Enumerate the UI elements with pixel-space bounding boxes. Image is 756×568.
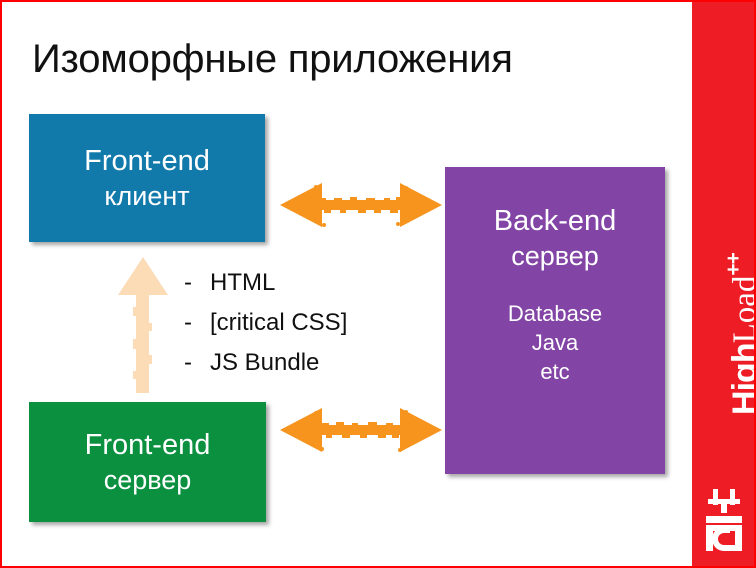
double-arrow-client-backend-icon [278,179,444,231]
box-frontend-client-line1: Front-end [84,143,210,179]
list-item-dash: - [184,343,210,383]
highload-logo-icon [700,489,748,551]
double-arrow-frontendserver-backend-icon [278,404,444,456]
list-item-label: HTML [210,263,275,303]
box-backend-server-sub3: etc [540,357,569,386]
box-backend-server-sub1: Database [508,299,602,328]
list-item-label: [critical CSS] [210,303,347,343]
box-backend-server-sub2: Java [532,328,578,357]
brand-wordmark: HighLoad++ [713,209,756,459]
list-item: - JS Bundle [184,343,347,383]
box-frontend-server-line2: сервер [104,463,192,497]
brand-high-text: High [726,343,756,415]
brand-plusplus-text: ++ [722,253,746,276]
box-frontend-client-line2: клиент [104,179,189,213]
box-frontend-server[interactable]: Front-end сервер [29,402,266,522]
brand-load-text: Load [727,276,756,344]
box-backend-server-line1: Back-end [494,203,617,239]
list-item-label: JS Bundle [210,343,319,383]
slide: Изоморфные приложения [0,0,756,568]
box-backend-server[interactable]: Back-end сервер Database Java etc [445,167,665,474]
brand-band: HighLoad++ [692,2,756,568]
box-backend-server-line2: сервер [511,239,599,273]
list-item: - [critical CSS] [184,303,347,343]
list-item-dash: - [184,263,210,303]
list-item-dash: - [184,303,210,343]
transfer-payload-list: - HTML - [critical CSS] - JS Bundle [184,263,347,383]
box-frontend-client[interactable]: Front-end клиент [29,114,265,242]
box-frontend-server-line1: Front-end [85,427,211,463]
list-item: - HTML [184,263,347,303]
page-title: Изоморфные приложения [32,35,513,83]
arrow-frontendserver-to-client-icon [112,255,174,395]
